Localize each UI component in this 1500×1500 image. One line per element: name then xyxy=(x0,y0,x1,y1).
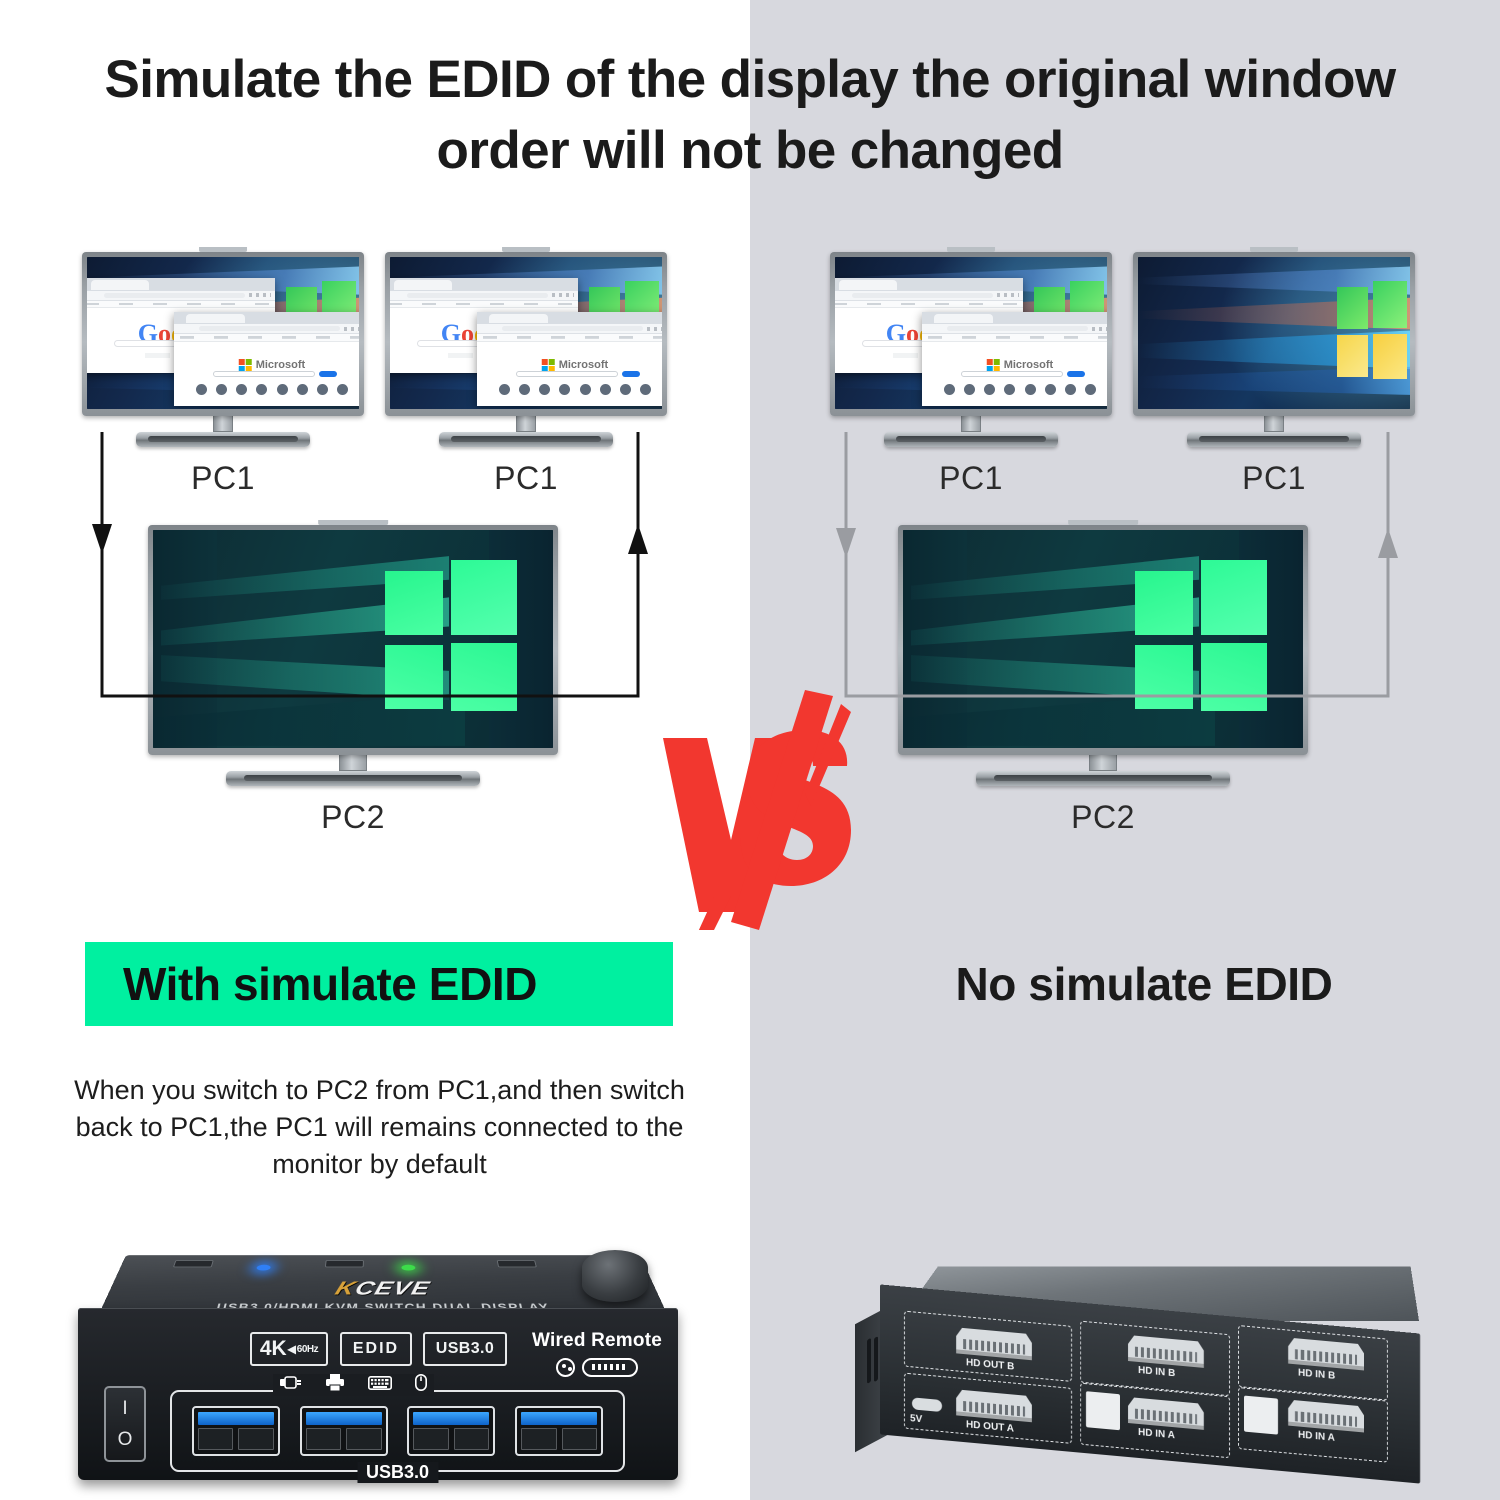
browser-tab-bar[interactable] xyxy=(87,278,275,290)
kvm-switch-front-view: KCEVE USB3.0/HDMI KVM SWITCH DUAL DISPLA… xyxy=(78,1228,678,1480)
monitor-bezel: Google Microsoft xyxy=(830,252,1112,416)
microsoft-search-input[interactable] xyxy=(213,371,315,377)
pc2-led-indicator xyxy=(401,1265,415,1271)
badge-4k-main: 4K xyxy=(260,1337,287,1361)
monitor-notch xyxy=(502,247,550,252)
browser-tab-bar[interactable] xyxy=(922,312,1107,324)
monitor-base xyxy=(976,771,1230,786)
browser-url-bar[interactable] xyxy=(390,291,578,301)
microsoft-browser-window[interactable]: Microsoft xyxy=(174,312,359,406)
monitor-neck xyxy=(339,755,368,771)
power-switch-off-label: O xyxy=(118,1430,133,1449)
usb3-port[interactable] xyxy=(300,1406,388,1456)
monitor-label: PC2 xyxy=(898,799,1308,836)
browser-url-bar[interactable] xyxy=(477,324,662,334)
windows-wallpaper xyxy=(1138,257,1410,409)
usb3-port[interactable] xyxy=(407,1406,495,1456)
microsoft-logo: Microsoft xyxy=(239,359,306,372)
no-simulate-edid-text: No simulate EDID xyxy=(955,957,1332,1011)
browser-bookmarks-bar[interactable] xyxy=(835,301,1023,309)
monitor-bezel: Google Microsoft xyxy=(82,252,364,416)
kvm-selector-knob[interactable] xyxy=(582,1250,648,1302)
monitor-screen xyxy=(1138,257,1410,409)
badge-edid: EDID xyxy=(340,1332,412,1366)
left-connection-arrows xyxy=(80,432,660,712)
browser-bookmarks-bar[interactable] xyxy=(87,301,275,309)
badge-usb3: USB3.0 xyxy=(423,1332,507,1366)
power-switch[interactable]: I O xyxy=(104,1386,146,1462)
microsoft-wordmark: Microsoft xyxy=(256,359,306,371)
browser-tab-bar[interactable] xyxy=(835,278,1023,290)
browser-bookmarks-bar[interactable] xyxy=(390,301,578,309)
microsoft-logo: Microsoft xyxy=(987,359,1054,372)
usb-b-port-1[interactable] xyxy=(1086,1391,1120,1430)
monitor-screen: Google Microsoft xyxy=(87,257,359,409)
microsoft-search-input[interactable] xyxy=(961,371,1063,377)
browser-tab-bar[interactable] xyxy=(390,278,578,290)
browser-bookmarks-bar[interactable] xyxy=(477,334,662,342)
microsoft-wordmark: Microsoft xyxy=(1004,359,1054,371)
microsoft-search-button[interactable] xyxy=(1067,371,1085,377)
printer-icon xyxy=(325,1374,345,1396)
monitor-neck xyxy=(961,416,981,432)
kvm-switch-rear-view: HD OUT B HD OUT A 5V HD IN B HD IN A HD … xyxy=(855,1235,1445,1485)
remote-connector-port[interactable] xyxy=(582,1358,638,1377)
monitor-neck xyxy=(516,416,536,432)
top-port-hdmi-2 xyxy=(497,1260,537,1267)
pc1-led-indicator xyxy=(256,1265,271,1271)
keyboard-icon xyxy=(368,1376,392,1395)
microsoft-logo: Microsoft xyxy=(542,359,609,372)
kvm-brand-logo: KCEVE xyxy=(332,1278,432,1300)
microsoft-squares-icon xyxy=(239,359,252,372)
usb3-port[interactable] xyxy=(515,1406,603,1456)
microsoft-quicklinks[interactable] xyxy=(499,384,652,394)
power-switch-on-label: I xyxy=(122,1399,127,1418)
microsoft-browser-window[interactable]: Microsoft xyxy=(477,312,662,406)
kvm-front-face: 4K ◂ 60Hz EDID USB3.0 Wired Remote I O xyxy=(78,1308,678,1480)
browser-bookmarks-bar[interactable] xyxy=(174,334,359,342)
microsoft-squares-icon xyxy=(987,359,1000,372)
browser-url-bar[interactable] xyxy=(87,291,275,301)
badge-4k-sub: 60Hz xyxy=(297,1344,318,1355)
browser-tab-bar[interactable] xyxy=(174,312,359,324)
monitor-bezel: Google Microsoft xyxy=(385,252,667,416)
page-title: Simulate the EDID of the display the ori… xyxy=(0,44,1500,186)
monitor-neck xyxy=(213,416,233,432)
microsoft-search-input[interactable] xyxy=(516,371,618,377)
top-port-hdmi-1 xyxy=(325,1260,364,1267)
right-connection-arrows xyxy=(832,432,1412,712)
browser-url-bar[interactable] xyxy=(835,291,1023,301)
monitor-screen: Google Microsoft xyxy=(390,257,662,409)
monitor-notch xyxy=(1250,247,1298,252)
microsoft-page-body: Microsoft xyxy=(174,342,359,406)
microsoft-search-button[interactable] xyxy=(622,371,640,377)
microsoft-wordmark: Microsoft xyxy=(559,359,609,371)
browser-bookmarks-bar[interactable] xyxy=(922,334,1107,342)
monitor-base xyxy=(226,771,480,786)
power-label: 5V xyxy=(910,1413,922,1425)
monitor-neck xyxy=(1264,416,1284,432)
no-simulate-edid-label: No simulate EDID xyxy=(884,942,1404,1026)
microsoft-page-body: Microsoft xyxy=(922,342,1107,406)
microsoft-browser-window[interactable]: Microsoft xyxy=(922,312,1107,406)
wired-remote-label: Wired Remote xyxy=(532,1330,662,1352)
wired-remote-section: Wired Remote xyxy=(532,1330,662,1377)
monitor-notch xyxy=(199,247,247,252)
microsoft-page-body: Microsoft xyxy=(477,342,662,406)
microsoft-quicklinks[interactable] xyxy=(196,384,349,394)
with-simulate-edid-text: With simulate EDID xyxy=(85,957,537,1011)
left-caption: When you switch to PC2 from PC1,and then… xyxy=(62,1072,697,1183)
microsoft-search-button[interactable] xyxy=(319,371,337,377)
badge-usb3-text: USB3.0 xyxy=(436,1340,494,1358)
monitor-neck xyxy=(1089,755,1118,771)
usb-flash-drive-icon xyxy=(280,1376,302,1394)
monitor-notch xyxy=(947,247,995,252)
remote-jack-icon xyxy=(556,1358,575,1377)
usb3-port[interactable] xyxy=(192,1406,280,1456)
microsoft-squares-icon xyxy=(542,359,555,372)
browser-tab-bar[interactable] xyxy=(477,312,662,324)
peripheral-icon-row xyxy=(273,1374,434,1396)
monitor-bezel xyxy=(1133,252,1415,416)
with-simulate-edid-label: With simulate EDID xyxy=(85,942,673,1026)
windows-logo xyxy=(1337,281,1408,381)
browser-url-bar[interactable] xyxy=(174,324,359,334)
microsoft-quicklinks[interactable] xyxy=(944,384,1097,394)
versus-badge xyxy=(655,690,855,930)
usb3-port-group: USB3.0 xyxy=(170,1390,625,1472)
mouse-icon xyxy=(415,1374,427,1396)
badge-4k: 4K ◂ 60Hz xyxy=(250,1332,328,1366)
monitor-screen: Google Microsoft xyxy=(835,257,1107,409)
monitor-label: PC2 xyxy=(148,799,558,836)
usb3-group-label: USB3.0 xyxy=(357,1462,438,1483)
top-port-usb-b xyxy=(173,1260,214,1267)
browser-url-bar[interactable] xyxy=(922,324,1107,334)
usb-b-port-2[interactable] xyxy=(1244,1396,1278,1435)
badge-edid-text: EDID xyxy=(353,1340,399,1358)
